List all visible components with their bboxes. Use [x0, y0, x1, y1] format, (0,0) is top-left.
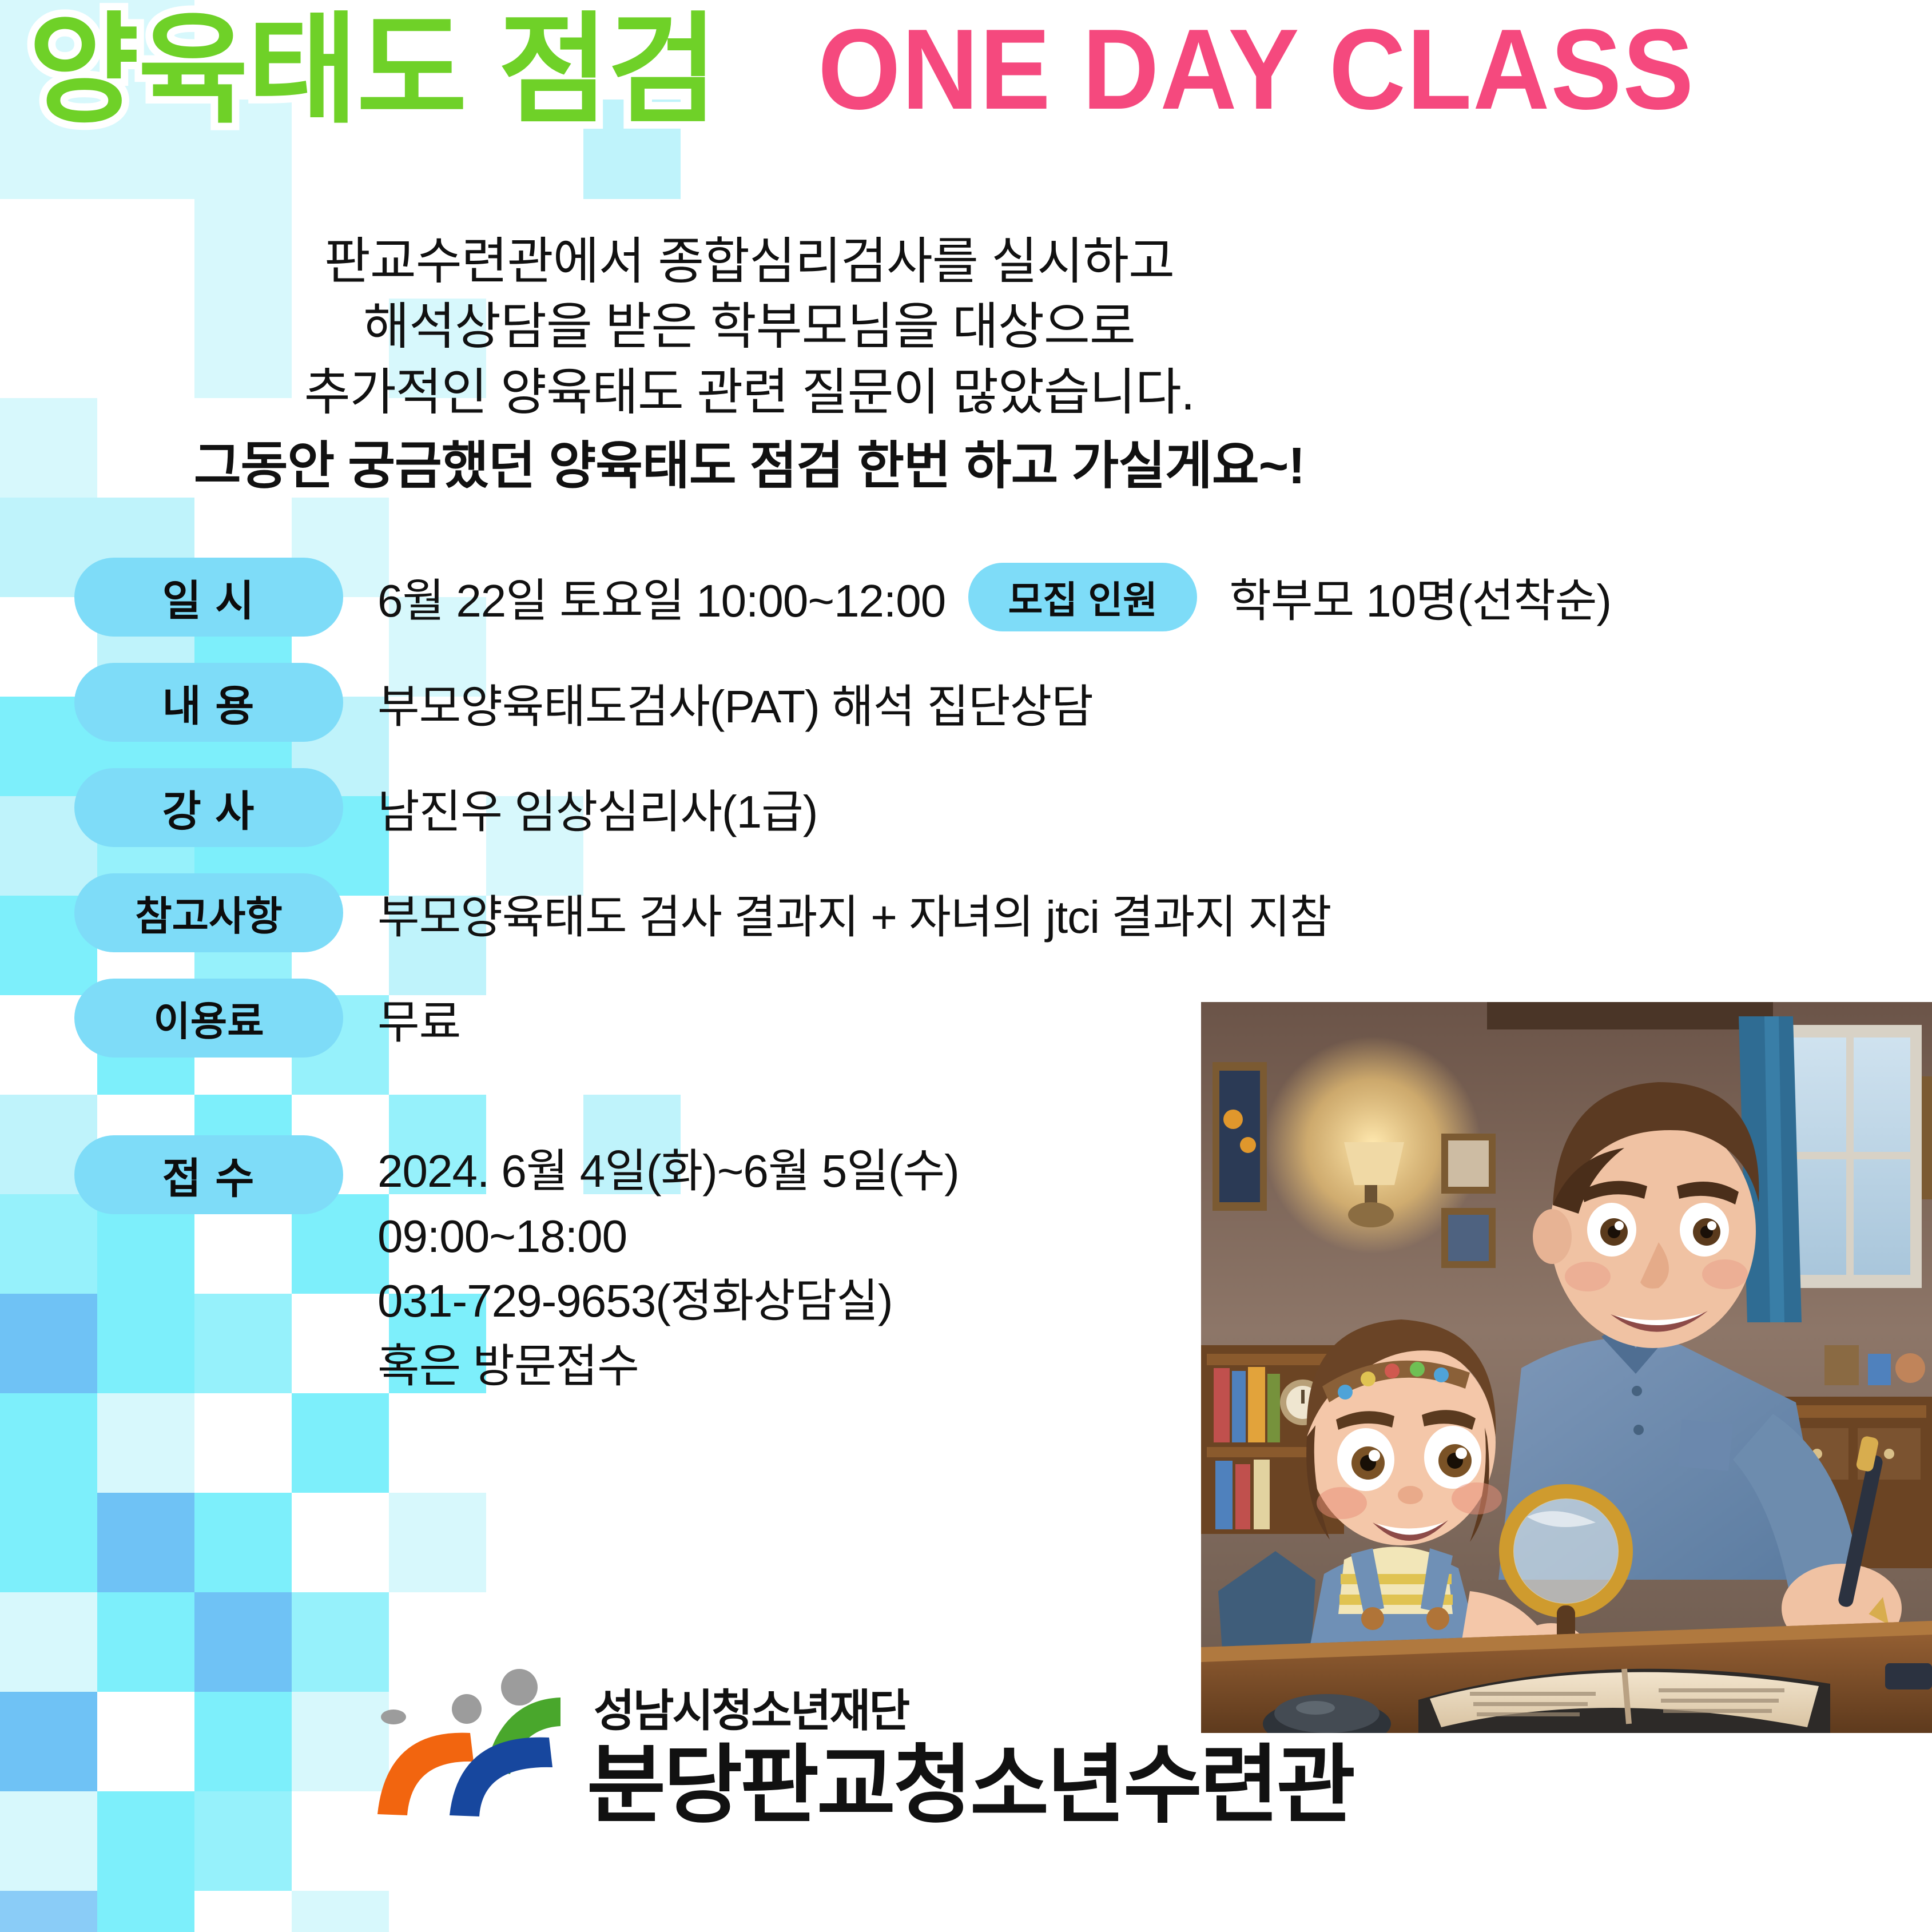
organization-logo: 성남시청소년재단 분당판교청소년수련관 [366, 1664, 1353, 1828]
mosaic-tile [194, 1493, 292, 1592]
logo-dot-left [381, 1710, 406, 1724]
info-label-content: 내 용 [74, 663, 343, 742]
info-label-notes: 참고사항 [74, 873, 343, 952]
intro-line-4-highlight: 그동안 궁금했던 양육태도 점검 한번 하고 가실게요~! [0, 433, 1498, 500]
mosaic-tile [194, 1592, 292, 1692]
logo-text-block: 성남시청소년재단 분당판교청소년수련관 [587, 1688, 1353, 1828]
info-value-notes: 부모양육태도 검사 결과지 + 자녀의 jtci 결과지 지참 [343, 873, 1932, 949]
intro-line-1: 판교수련관에서 종합심리검사를 실시하고 [0, 229, 1498, 294]
mosaic-tile [292, 1891, 389, 1932]
mosaic-tile [0, 1592, 97, 1692]
mosaic-tile [0, 1891, 97, 1932]
info-row-content: 내 용 부모양육태도검사(PAT) 해석 집단상담 [0, 663, 1932, 742]
info-value-datetime: 6월 22일 토요일 10:00~12:00 [343, 564, 968, 630]
info-label-instructor: 강 사 [74, 768, 343, 847]
mosaic-tile [97, 1791, 194, 1891]
info-row-datetime: 일 시 6월 22일 토요일 10:00~12:00 모집 인원 학부모 10명… [0, 558, 1932, 637]
mosaic-tile [97, 1891, 194, 1932]
info-value-capacity: 학부모 10명(선착순) [1197, 564, 1611, 630]
poster-title-english: ONE DAY CLASS [818, 13, 1695, 127]
poster-title-korean: 양육태도 점검 [29, 10, 717, 130]
logo-dot-right [501, 1669, 538, 1706]
info-label-fee: 이용료 [74, 979, 343, 1058]
info-label-datetime: 일 시 [74, 558, 343, 637]
info-value-content: 부모양육태도검사(PAT) 해석 집단상담 [343, 663, 1932, 738]
mosaic-tile [97, 1493, 194, 1592]
mosaic-tile [194, 1791, 292, 1891]
logo-mark-icon [366, 1664, 572, 1824]
info-row-notes: 참고사항 부모양육태도 검사 결과지 + 자녀의 jtci 결과지 지참 [0, 873, 1932, 952]
info-label-registration: 접 수 [74, 1135, 343, 1214]
promo-photo [1201, 1002, 1932, 1733]
mosaic-tile [389, 1493, 486, 1592]
mosaic-tile [0, 1493, 97, 1592]
photo-illustration [1201, 1002, 1932, 1733]
intro-line-3: 추가적인 양육태도 관련 질문이 많았습니다. [0, 360, 1498, 425]
info-row-instructor: 강 사 남진우 임상심리사(1급) [0, 768, 1932, 847]
logo-dot-middle [452, 1694, 482, 1724]
poster-canvas: 양육태도 점검 ONE DAY CLASS 판교수련관에서 종합심리검사를 실시… [0, 0, 1932, 1932]
intro-line-2: 해석상담을 받은 학부모님을 대상으로 [0, 294, 1498, 359]
poster-header: 양육태도 점검 ONE DAY CLASS [0, 0, 1932, 172]
logo-foundation-name: 성남시청소년재단 [594, 1688, 908, 1733]
mosaic-tile [0, 1692, 97, 1791]
intro-paragraph: 판교수련관에서 종합심리검사를 실시하고 해석상담을 받은 학부모님을 대상으로… [0, 229, 1498, 500]
info-value-instructor: 남진우 임상심리사(1급) [343, 768, 1932, 844]
mosaic-tile [0, 1791, 97, 1891]
mosaic-tile [194, 1692, 292, 1791]
logo-center-name: 분당판교청소년수련관 [587, 1742, 1353, 1828]
mosaic-tile [97, 1592, 194, 1692]
info-label-capacity: 모집 인원 [968, 563, 1197, 631]
